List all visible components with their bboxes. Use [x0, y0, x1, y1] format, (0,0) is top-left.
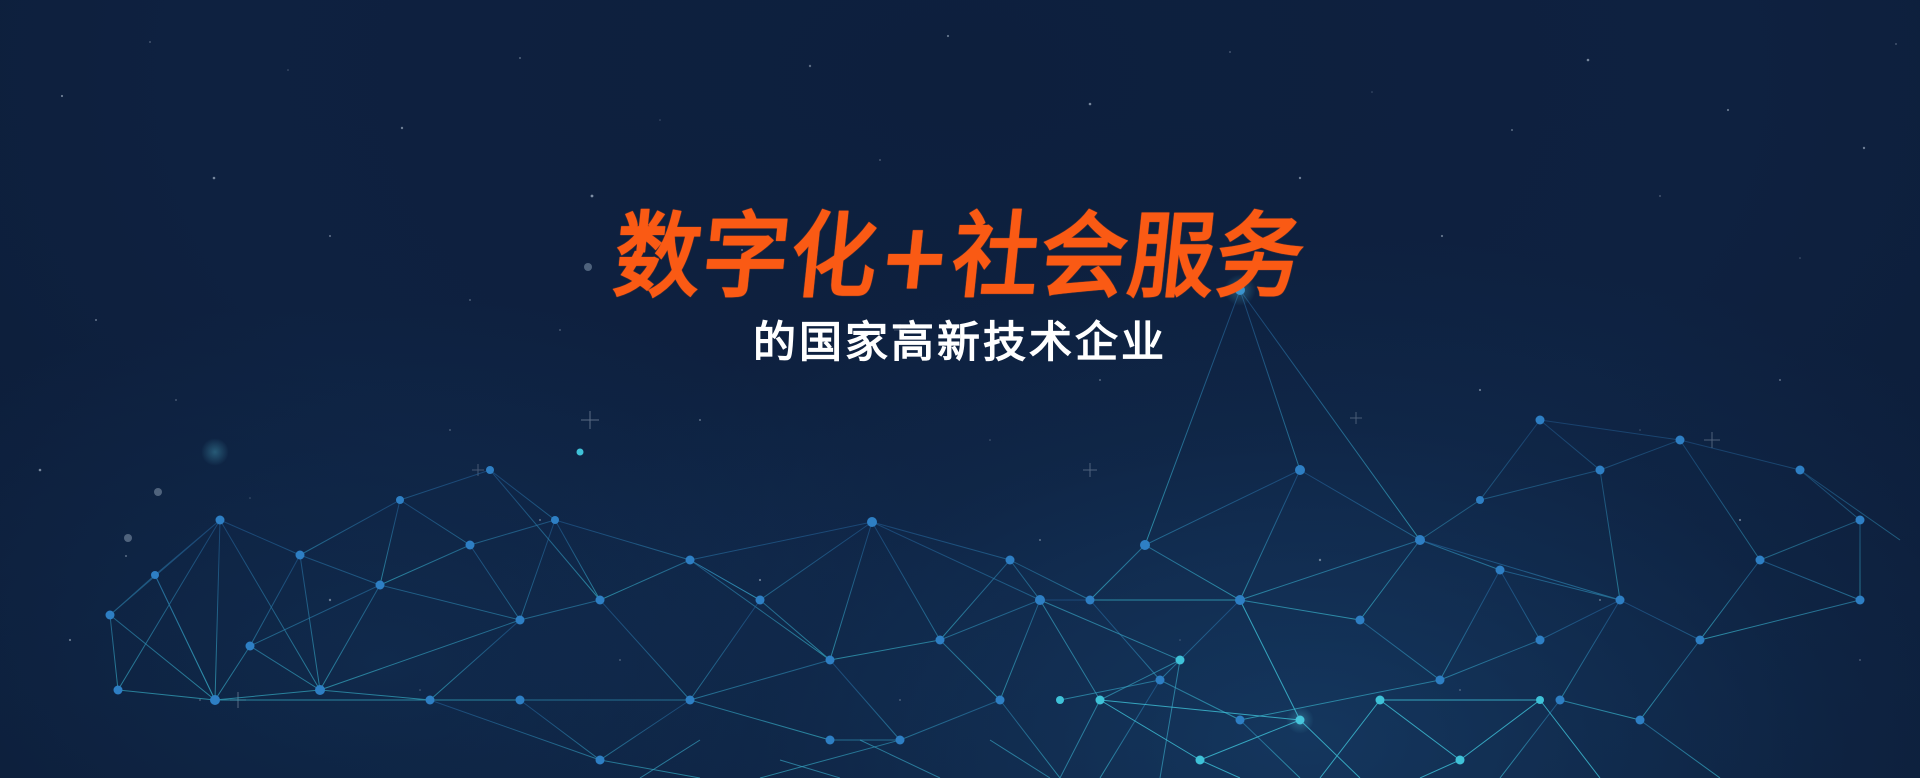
hero-text-block: 数字化+社会服务 的国家高新技术企业 — [0, 214, 1920, 365]
polygon-network-graphic — [0, 0, 1920, 778]
page-subtitle: 的国家高新技术企业 — [0, 322, 1920, 365]
network-svg — [0, 0, 1920, 778]
page-title: 数字化+社会服务 — [610, 211, 1310, 304]
hero-banner: 数字化+社会服务 的国家高新技术企业 — [0, 0, 1920, 778]
